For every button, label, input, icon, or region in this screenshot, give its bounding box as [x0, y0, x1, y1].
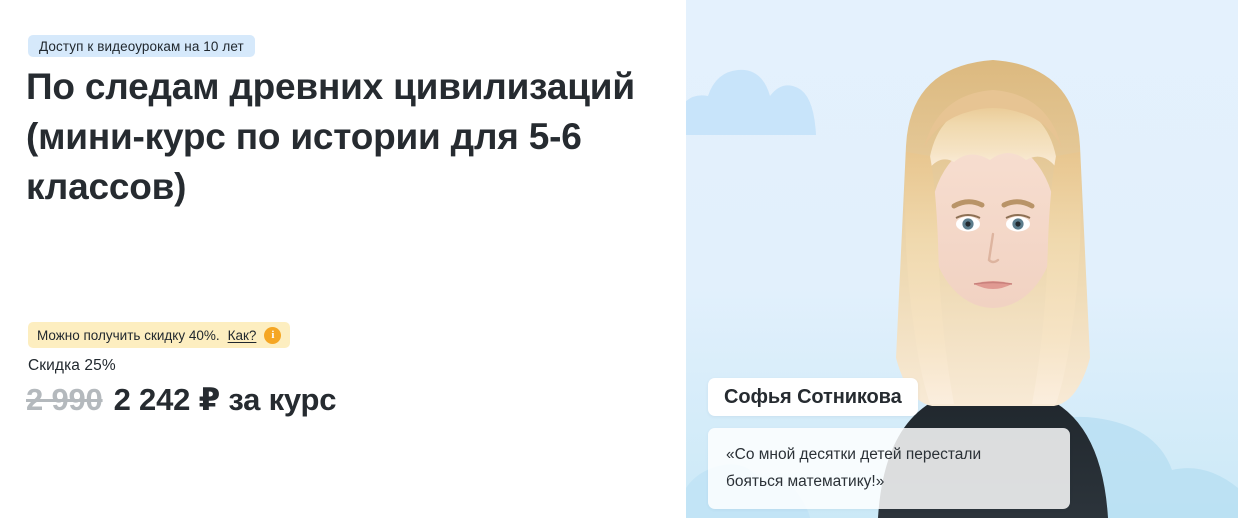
info-icon[interactable]: i: [264, 327, 281, 344]
discount-percent-label: Скидка 25%: [28, 357, 116, 375]
discount-how-link[interactable]: Как?: [228, 328, 257, 343]
current-price: 2 242 ₽ за курс: [114, 382, 337, 418]
access-duration-badge: Доступ к видеоурокам на 10 лет: [28, 35, 255, 57]
discount-offer-badge[interactable]: Можно получить скидку 40%. Как? i: [28, 322, 290, 348]
course-promo-banner: Доступ к видеоурокам на 10 лет По следам…: [0, 0, 1238, 518]
teacher-showcase-panel: Софья Сотникова «Со мной десятки детей п…: [686, 0, 1238, 518]
discount-offer-text: Можно получить скидку 40%.: [37, 328, 220, 343]
page-title: По следам древних цивилизаций (мини-курс…: [26, 62, 646, 212]
price-row: 2 990 2 242 ₽ за курс: [26, 382, 336, 418]
course-info-column: Доступ к видеоурокам на 10 лет По следам…: [0, 0, 686, 518]
quote-line-2: бояться математику!»: [726, 468, 1052, 495]
teacher-quote-card: «Со мной десятки детей перестали бояться…: [708, 428, 1070, 509]
quote-line-1: «Со мной десятки детей перестали: [726, 441, 1052, 468]
old-price: 2 990: [26, 382, 103, 418]
teacher-name-card: Софья Сотникова: [708, 378, 918, 416]
